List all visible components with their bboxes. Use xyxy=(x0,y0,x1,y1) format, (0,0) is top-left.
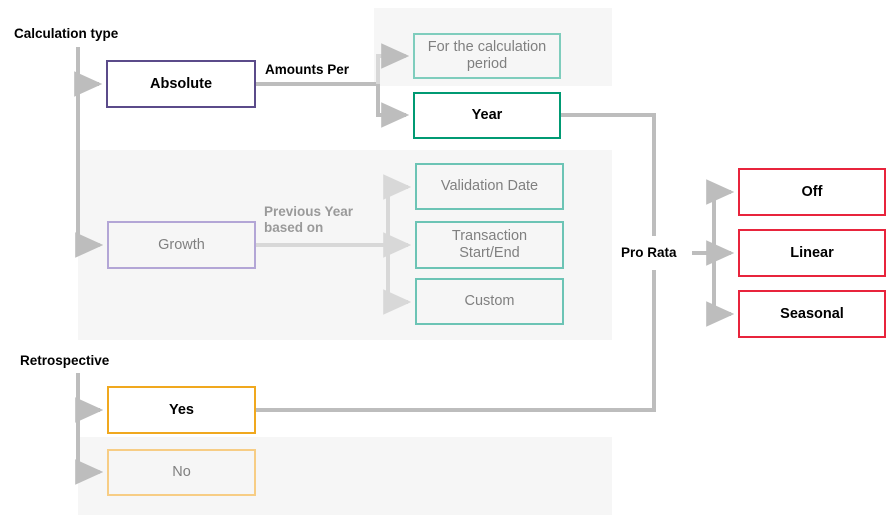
node-seasonal-label: Seasonal xyxy=(740,306,884,323)
node-for-the-calculation-period[interactable]: For the calculation period xyxy=(413,33,561,79)
node-seasonal[interactable]: Seasonal xyxy=(738,290,886,338)
node-year[interactable]: Year xyxy=(413,92,561,139)
node-year-label: Year xyxy=(415,107,559,124)
node-for-the-calculation-period-label: For the calculation period xyxy=(415,39,559,72)
node-custom[interactable]: Custom xyxy=(415,278,564,325)
node-absolute-label: Absolute xyxy=(108,76,254,93)
node-absolute[interactable]: Absolute xyxy=(106,60,256,108)
node-off[interactable]: Off xyxy=(738,168,886,216)
node-linear-label: Linear xyxy=(740,245,884,262)
node-no[interactable]: No xyxy=(107,449,256,496)
node-linear[interactable]: Linear xyxy=(738,229,886,277)
node-transaction-start-end[interactable]: Transaction Start/End xyxy=(415,221,564,269)
node-off-label: Off xyxy=(740,184,884,201)
node-validation-date[interactable]: Validation Date xyxy=(415,163,564,210)
node-no-label: No xyxy=(109,464,254,481)
node-transaction-start-end-label: Transaction Start/End xyxy=(417,228,562,261)
node-yes[interactable]: Yes xyxy=(107,386,256,434)
group-label-retrospective: Retrospective xyxy=(20,353,109,368)
edge-label-previous-year-based-on: Previous Year based on xyxy=(264,204,376,236)
edge-label-amounts-per: Amounts Per xyxy=(265,62,349,78)
node-validation-date-label: Validation Date xyxy=(417,178,562,195)
edge-label-pro-rata: Pro Rata xyxy=(621,245,677,261)
group-label-calculation-type: Calculation type xyxy=(14,26,118,41)
node-growth[interactable]: Growth xyxy=(107,221,256,269)
node-growth-label: Growth xyxy=(109,237,254,254)
node-custom-label: Custom xyxy=(417,293,562,310)
node-yes-label: Yes xyxy=(109,402,254,419)
flowchart-canvas: Calculation type Retrospective Amounts P… xyxy=(0,0,890,521)
